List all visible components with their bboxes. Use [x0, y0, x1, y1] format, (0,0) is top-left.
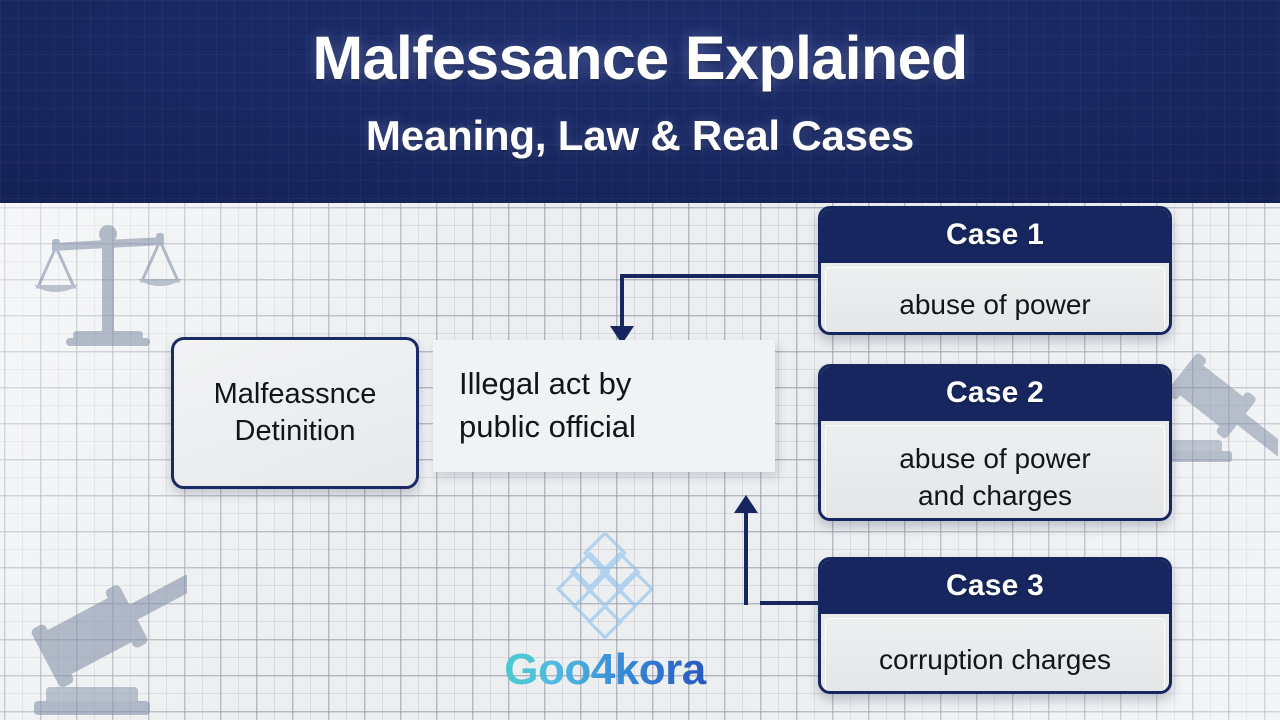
- infographic-canvas: Malfessance Explained Meaning, Law & Rea…: [0, 0, 1280, 720]
- case-card-2[interactable]: Case 2 abuse of power and charges: [818, 364, 1172, 521]
- statement-line-1: Illegal act by: [459, 366, 631, 401]
- connector-case3-arrowhead-icon: [734, 495, 758, 513]
- case-card-1-body: abuse of power: [825, 267, 1165, 335]
- case-card-3[interactable]: Case 3 corruption charges: [818, 557, 1172, 694]
- connector-case1-vertical: [620, 274, 624, 330]
- connector-case1-horizontal: [622, 274, 818, 278]
- connector-case3-vertical: [744, 513, 748, 605]
- statement-panel[interactable]: Illegal act by public official: [433, 340, 775, 472]
- page-subtitle: Meaning, Law & Real Cases: [0, 112, 1280, 160]
- case-card-1-title: Case 1: [821, 209, 1169, 263]
- case-card-2-body-line-2: and charges: [918, 480, 1072, 511]
- case-card-3-body-line-1: corruption charges: [879, 641, 1111, 678]
- case-card-2-body: abuse of power and charges: [825, 425, 1165, 521]
- header-banner: Malfessance Explained Meaning, Law & Rea…: [0, 0, 1280, 203]
- case-card-2-title: Case 2: [821, 367, 1169, 421]
- definition-line-2: Detinition: [235, 415, 356, 447]
- definition-box[interactable]: Malfeassnce Detinition: [171, 337, 419, 489]
- definition-line-1: Malfeassnce: [214, 378, 377, 410]
- case-card-2-body-line-1: abuse of power: [899, 443, 1090, 474]
- case-card-3-body: corruption charges: [825, 618, 1165, 694]
- page-title: Malfessance Explained: [0, 26, 1280, 91]
- case-card-2-body-text: abuse of power and charges: [899, 440, 1090, 514]
- case-card-3-title: Case 3: [821, 560, 1169, 614]
- case-card-1[interactable]: Case 1 abuse of power: [818, 206, 1172, 335]
- statement-panel-text: Illegal act by public official: [459, 363, 636, 449]
- connector-case3-horizontal: [760, 601, 818, 605]
- definition-box-text: Malfeassnce Detinition: [214, 376, 377, 450]
- statement-line-2: public official: [459, 409, 636, 444]
- case-card-1-body-line-1: abuse of power: [899, 286, 1090, 323]
